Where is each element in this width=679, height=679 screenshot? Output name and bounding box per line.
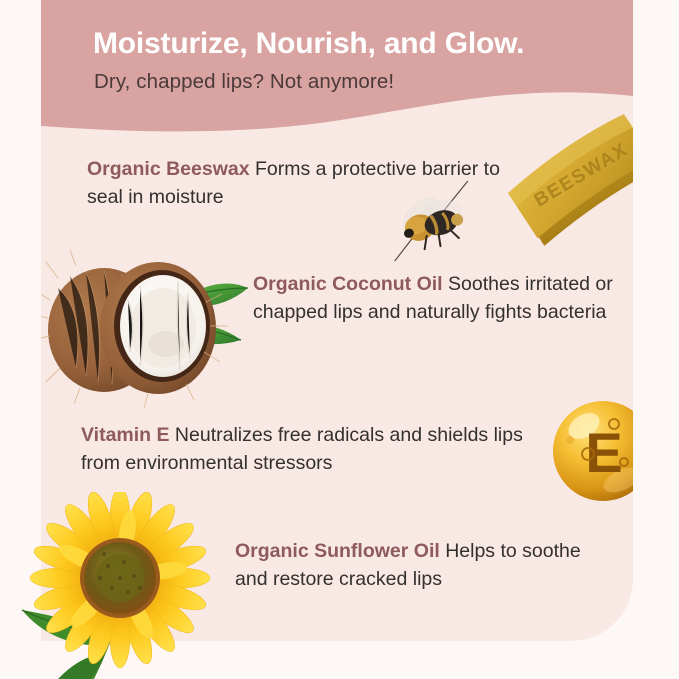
ingredient-name-beeswax: Organic Beeswax xyxy=(87,158,250,180)
svg-text:E: E xyxy=(585,421,622,484)
sunflower-icon xyxy=(8,492,223,679)
sunflower-shape xyxy=(8,492,223,679)
honeybee-icon xyxy=(379,181,489,261)
feature-vitamin-e: Vitamin E Neutralizes free radicals and … xyxy=(81,421,551,478)
beeswax-bar-shape: BEESWAX xyxy=(496,112,633,262)
coconut-icon xyxy=(41,248,271,408)
page-title: Moisturize, Nourish, and Glow. xyxy=(41,0,633,61)
beeswax-bar-icon: BEESWAX xyxy=(496,112,633,262)
infographic-canvas: Moisturize, Nourish, and Glow. Dry, chap… xyxy=(0,0,679,679)
ingredient-name-vitamin-e: Vitamin E xyxy=(81,424,170,446)
vitamin-e-capsule-icon: E xyxy=(544,392,633,510)
page-subtitle: Dry, chapped lips? Not anymore! xyxy=(41,61,633,94)
ingredient-name-coconut: Organic Coconut Oil xyxy=(253,273,443,295)
honeybee-shape xyxy=(379,181,489,261)
feature-coconut: Organic Coconut Oil Soothes irritated or… xyxy=(253,270,625,327)
ingredient-name-sunflower: Organic Sunflower Oil xyxy=(235,540,440,562)
vitamin-e-capsule-shape: E xyxy=(544,392,633,510)
feature-sunflower: Organic Sunflower Oil Helps to soothe an… xyxy=(235,537,615,594)
coconut-shape xyxy=(41,248,271,408)
